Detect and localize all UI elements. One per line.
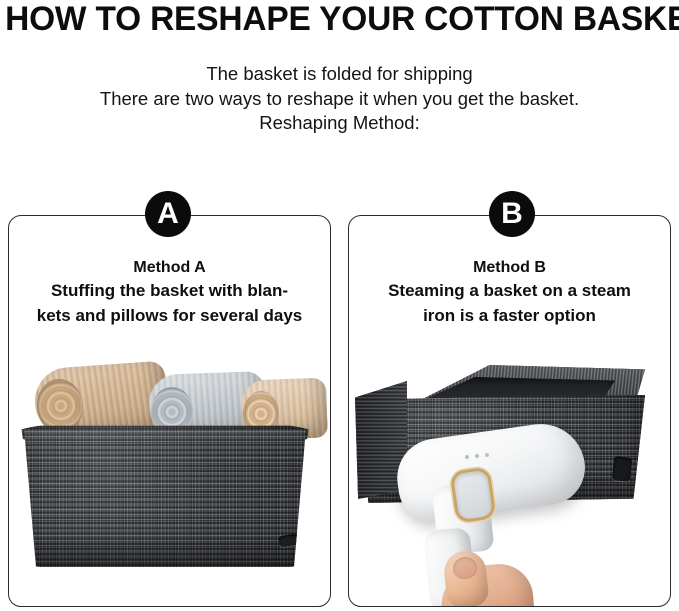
subtitle-line-1: The basket is folded for shipping (0, 62, 679, 87)
steamer-power-button (450, 466, 497, 523)
steamer-indicator-dot (475, 454, 479, 458)
basket-handle-cutout (278, 534, 299, 547)
page-title: HOW TO RESHAPE YOUR COTTON BASKET (5, 0, 674, 40)
method-a-desc-line-1: Stuffing the basket with blan- (9, 278, 330, 303)
method-a-heading: Method A Stuffing the basket with blan- … (9, 257, 330, 328)
steamer-indicator-dot (485, 453, 489, 457)
method-a-desc-line-2: kets and pillows for several days (9, 303, 330, 328)
subtitle-line-2: There are two ways to reshape it when yo… (0, 87, 679, 112)
subtitle-line-3: Reshaping Method: (0, 111, 679, 136)
method-b-heading: Method B Steaming a basket on a steam ir… (349, 257, 670, 328)
method-b-photo (349, 351, 670, 606)
badge-method-b: B (489, 191, 535, 237)
method-b-desc-line-1: Steaming a basket on a steam (349, 278, 670, 303)
badge-method-a: A (145, 191, 191, 237)
method-b-desc-line-2: iron is a faster option (349, 303, 670, 328)
method-a-title: Method A (9, 257, 330, 278)
method-panel-a: Method A Stuffing the basket with blan- … (8, 215, 331, 607)
steamer-indicator-dot (465, 455, 469, 459)
method-panel-b: Method B Steaming a basket on a steam ir… (348, 215, 671, 607)
method-b-title: Method B (349, 257, 670, 278)
subtitle-block: The basket is folded for shipping There … (0, 62, 679, 136)
method-a-photo (9, 351, 330, 606)
basket-handle-cutout (612, 456, 632, 482)
basket-body (15, 429, 315, 567)
